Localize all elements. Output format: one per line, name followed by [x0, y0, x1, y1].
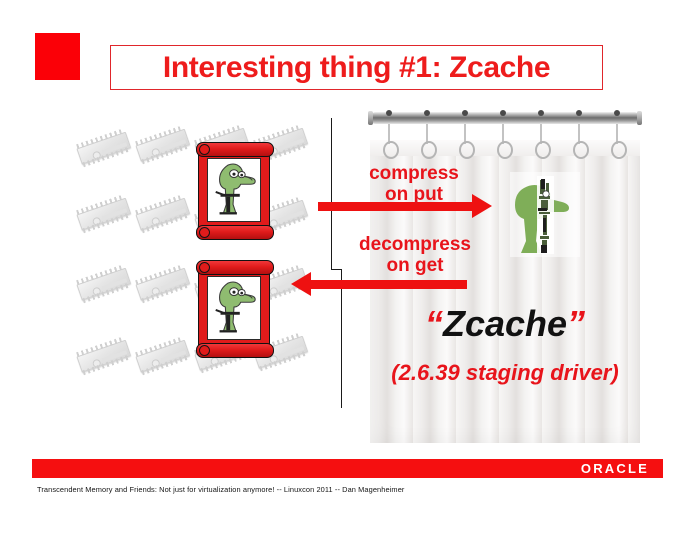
memory-chip-icon — [69, 127, 136, 172]
decompress-label-line2: on get — [387, 255, 444, 276]
slide-canvas: Interesting thing #1: Zcache — [0, 0, 695, 537]
memory-chip-icon — [128, 193, 195, 238]
decompress-label: decompress on get — [330, 234, 500, 276]
compress-label-line1: compress — [369, 163, 459, 184]
scroll-page-icon — [196, 142, 272, 238]
memory-chip-icon — [128, 263, 195, 308]
memory-chip-icon — [128, 124, 195, 169]
footer-note: Transcendent Memory and Friends: Not jus… — [37, 485, 404, 494]
curtain-ring-icon — [611, 141, 627, 159]
memory-chip-icon — [69, 193, 136, 238]
memory-chip-icon — [128, 335, 195, 380]
compress-label: compress on put — [336, 163, 492, 205]
curtain-ring-icon — [573, 141, 589, 159]
memory-chip-icon — [69, 263, 136, 308]
slide-title-box: Interesting thing #1: Zcache — [110, 45, 603, 90]
scroll-page-icon — [196, 260, 272, 356]
decompress-label-line1: decompress — [359, 234, 471, 255]
shower-curtain-icon — [370, 110, 640, 443]
curtain-ring-icon — [497, 141, 513, 159]
quote-close: ” — [567, 303, 585, 344]
oracle-logo: ORACLE — [581, 461, 649, 476]
gator-figure-icon — [208, 159, 260, 221]
compressed-page-icon — [510, 172, 580, 257]
page-title: Interesting thing #1: Zcache — [163, 53, 550, 83]
curtain-ring-icon — [383, 141, 399, 159]
memory-chip-icon — [69, 335, 136, 380]
red-square-logo — [35, 33, 80, 80]
quote-open: “ — [425, 303, 443, 344]
compress-label-line2: on put — [385, 184, 443, 205]
curtain-ring-icon — [459, 141, 475, 159]
zcache-caption-name: Zcache — [443, 303, 567, 344]
zcache-caption: “Zcache” — [370, 303, 640, 345]
gator-figure-icon — [208, 277, 260, 339]
curtain-ring-icon — [421, 141, 437, 159]
footer-bar: ORACLE — [32, 459, 663, 478]
zcache-subcaption: (2.6.39 staging driver) — [370, 360, 640, 386]
compressed-gator-icon — [510, 172, 580, 257]
curtain-ring-icon — [535, 141, 551, 159]
